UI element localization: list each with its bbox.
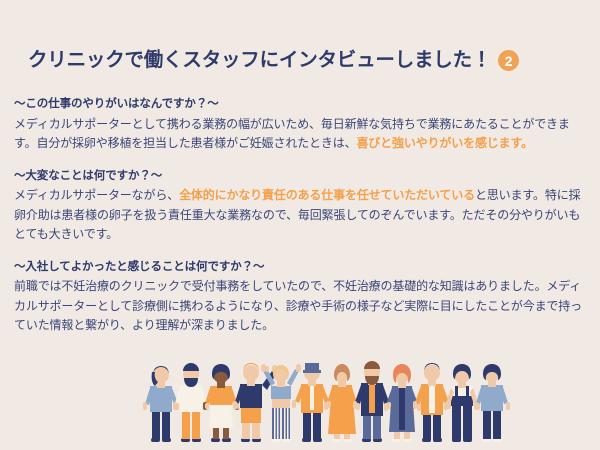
qa-heading-2: 〜大変なことは何ですか？〜 [14,168,588,185]
qa-answer-1: メディカルサポーターとして携わる業務の幅が広いため、毎日新鮮な気持ちで業務にあた… [14,115,588,154]
qa-block-2: 〜大変なことは何ですか？〜 メディカルサポーターながら、全体的にかなり責任のある… [14,168,588,245]
qa-answer-3-part-1: 前職では不妊治療のクリニックで受付事務をしていたので、不妊治療の基礎的な知識はあ… [14,279,582,332]
page-title-row: クリニックで働くスタッフにインタビューしました！ 2 [28,50,519,71]
qa-block-1: 〜この仕事のやりがいはなんですか？〜 メディカルサポーターとして携わる業務の幅が… [14,96,588,154]
person-4-navy-hoodie-arm-up [233,363,277,442]
title-number-badge: 2 [498,50,519,71]
qa-heading-3: 〜入社してよかったと感じることは何ですか？〜 [14,259,588,276]
qa-block-3: 〜入社してよかったと感じることは何ですか？〜 前職では不妊治療のクリニックで受付… [14,259,588,336]
qa-answer-1-highlight-1: 喜びと強いやりがいを感じます。 [356,136,533,150]
page-title: クリニックで働くスタッフにインタビューしました！ [28,51,491,71]
person-8-navy-coat-orange-shirt [353,361,391,442]
qa-answer-3: 前職では不妊治療のクリニックで受付事務をしていたので、不妊治療の基礎的な知識はあ… [14,277,588,335]
qa-heading-1: 〜この仕事のやりがいはなんですか？〜 [14,96,588,113]
people-holding-hands-illustration [0,358,600,450]
person-2-bearded-cream [173,363,209,442]
qa-content: 〜この仕事のやりがいはなんですか？〜 メディカルサポーターとして携わる業務の幅が… [14,96,588,336]
qa-answer-2: メディカルサポーターながら、全体的にかなり責任のある仕事を任せていただいていると… [14,186,588,244]
qa-answer-2-part-1: メディカルサポーターながら、 [14,188,179,202]
qa-answer-2-highlight-1: 全体的にかなり責任のある仕事を任せていただいている [179,188,475,202]
interview-page: クリニックで働くスタッフにインタビューしました！ 2 〜この仕事のやりがいはなん… [0,0,600,450]
person-12-navy-pants [474,364,510,442]
